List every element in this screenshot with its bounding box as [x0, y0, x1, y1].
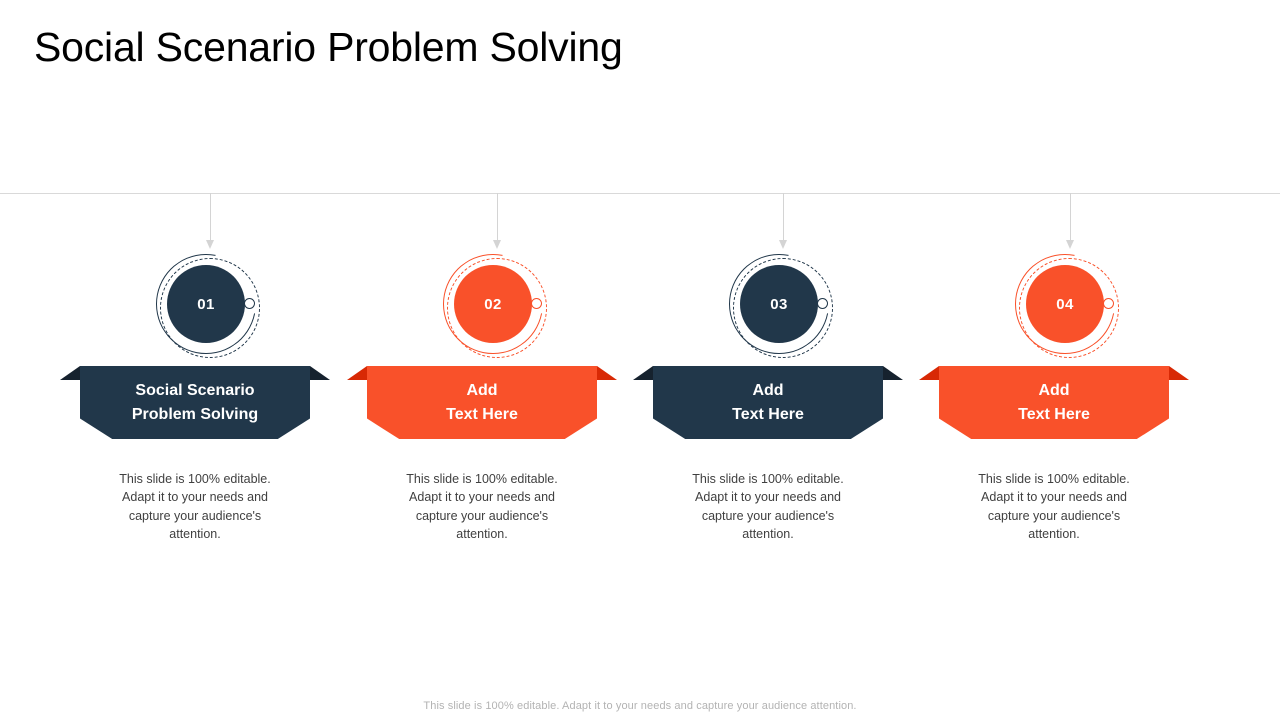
column-body-text: This slide is 100% editable. Adapt it to… [115, 470, 275, 543]
slide-canvas: Social Scenario Problem Solving 01Social… [0, 0, 1280, 720]
column-body-text: This slide is 100% editable. Adapt it to… [688, 470, 848, 543]
step-number-label: 02 [454, 265, 532, 343]
column-04: 04Add Text HereThis slide is 100% editab… [919, 0, 1219, 720]
column-body-text: This slide is 100% editable. Adapt it to… [974, 470, 1134, 543]
ribbon-banner-02[interactable]: Add Text Here [367, 366, 597, 439]
column-03: 03Add Text HereThis slide is 100% editab… [633, 0, 933, 720]
step-badge-02[interactable]: 02 [443, 254, 551, 362]
step-number-label: 03 [740, 265, 818, 343]
ribbon-banner-04[interactable]: Add Text Here [939, 366, 1169, 439]
orbit-marker-dot-icon [244, 298, 255, 309]
ribbon-fold-right [883, 366, 903, 380]
orbit-marker-dot-icon [1103, 298, 1114, 309]
ribbon-label: Add Text Here [367, 366, 597, 439]
ribbon-fold-left [919, 366, 939, 380]
step-badge-03[interactable]: 03 [729, 254, 837, 362]
ribbon-label: Add Text Here [653, 366, 883, 439]
column-02: 02Add Text HereThis slide is 100% editab… [347, 0, 647, 720]
ribbon-label: Add Text Here [939, 366, 1169, 439]
orbit-marker-dot-icon [817, 298, 828, 309]
ribbon-fold-left [347, 366, 367, 380]
ribbon-banner-03[interactable]: Add Text Here [653, 366, 883, 439]
column-01: 01Social Scenario Problem SolvingThis sl… [60, 0, 360, 720]
footer-note: This slide is 100% editable. Adapt it to… [0, 700, 1280, 712]
ribbon-fold-left [60, 366, 80, 380]
ribbon-label: Social Scenario Problem Solving [80, 366, 310, 439]
ribbon-fold-right [597, 366, 617, 380]
ribbon-fold-right [1169, 366, 1189, 380]
step-badge-01[interactable]: 01 [156, 254, 264, 362]
orbit-marker-dot-icon [531, 298, 542, 309]
step-number-label: 04 [1026, 265, 1104, 343]
column-body-text: This slide is 100% editable. Adapt it to… [402, 470, 562, 543]
ribbon-fold-left [633, 366, 653, 380]
step-number-label: 01 [167, 265, 245, 343]
step-badge-04[interactable]: 04 [1015, 254, 1123, 362]
ribbon-fold-right [310, 366, 330, 380]
ribbon-banner-01[interactable]: Social Scenario Problem Solving [80, 366, 310, 439]
